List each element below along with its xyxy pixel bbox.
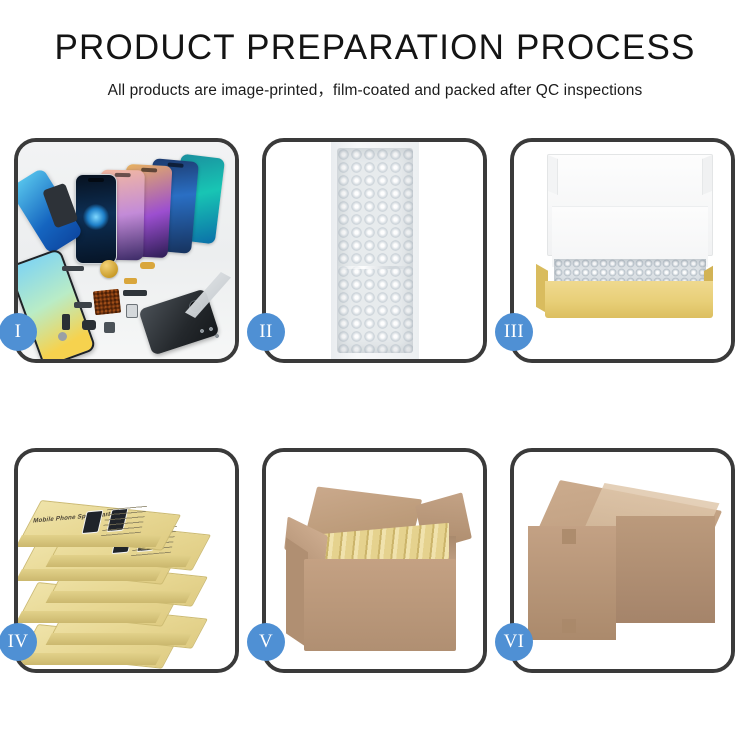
process-step-panel-5: V bbox=[262, 448, 487, 673]
bubble-texture bbox=[337, 148, 413, 353]
step-image-open-carton bbox=[266, 452, 483, 669]
step-badge-1: I bbox=[0, 313, 37, 351]
carton-right-face bbox=[616, 516, 715, 624]
step-image-product-parts bbox=[18, 142, 235, 359]
step-badge-6: VI bbox=[495, 623, 533, 661]
phone-glass-icon bbox=[75, 174, 117, 264]
carton-flap-seam bbox=[562, 529, 575, 544]
step-image-bubble-wrap bbox=[266, 142, 483, 359]
open-carton-graphic bbox=[286, 486, 467, 651]
page-title: PRODUCT PREPARATION PROCESS bbox=[0, 30, 750, 67]
process-step-panel-2: II bbox=[262, 138, 487, 363]
sealed-carton-graphic bbox=[528, 480, 719, 643]
carton-flap-seam bbox=[562, 619, 575, 634]
spare-part-icon bbox=[62, 314, 70, 330]
step-image-sealed-carton bbox=[514, 452, 731, 669]
spare-part-icon bbox=[104, 322, 115, 333]
coil-component-icon bbox=[100, 260, 118, 278]
step-image-stacked-boxes: Mobile Phone Spare Parts Mobile Phone Sp… bbox=[18, 452, 235, 669]
kraft-mailer-graphic bbox=[536, 154, 713, 321]
step-image-inner-box bbox=[514, 142, 731, 359]
spare-part-icon bbox=[140, 262, 155, 269]
screws-icon bbox=[199, 327, 221, 341]
copper-mesh-icon bbox=[93, 289, 121, 316]
product-preparation-page: PRODUCT PREPARATION PROCESS All products… bbox=[0, 0, 750, 750]
process-step-grid: I II bbox=[14, 138, 736, 673]
bubble-wrap-pouch-graphic bbox=[331, 142, 419, 359]
step-badge-4: IV bbox=[0, 623, 37, 661]
step-badge-3: III bbox=[495, 313, 533, 351]
mailer-front-panel bbox=[545, 281, 713, 318]
spare-part-icon bbox=[124, 278, 137, 284]
pouch-seam bbox=[337, 266, 413, 269]
process-step-panel-6: VI bbox=[510, 448, 735, 673]
phone-screen-fan-graphic bbox=[18, 142, 235, 268]
spare-part-icon bbox=[62, 266, 84, 271]
spare-part-icon bbox=[126, 304, 138, 318]
page-header: PRODUCT PREPARATION PROCESS All products… bbox=[0, 0, 750, 100]
spare-part-icon bbox=[82, 320, 96, 330]
process-step-panel-1: I bbox=[14, 138, 239, 363]
carton-front-face bbox=[304, 559, 456, 651]
box-stack-graphic: Mobile Phone Spare Parts Mobile Phone Sp… bbox=[22, 466, 235, 666]
foam-insert bbox=[552, 206, 708, 267]
spare-part-icon bbox=[58, 332, 67, 341]
spare-part-box-labelled: Mobile Phone Spare Parts bbox=[22, 500, 162, 536]
adhesive-sheet-icon bbox=[18, 167, 84, 254]
spare-part-icon bbox=[74, 302, 92, 308]
process-step-panel-4: Mobile Phone Spare Parts Mobile Phone Sp… bbox=[14, 448, 239, 673]
page-subtitle: All products are image-printed，film-coat… bbox=[0, 78, 750, 100]
process-step-panel-3: III bbox=[510, 138, 735, 363]
box-spec-lines bbox=[101, 506, 147, 536]
step-badge-5: V bbox=[247, 623, 285, 661]
step-badge-2: II bbox=[247, 313, 285, 351]
spare-part-icon bbox=[123, 290, 147, 296]
